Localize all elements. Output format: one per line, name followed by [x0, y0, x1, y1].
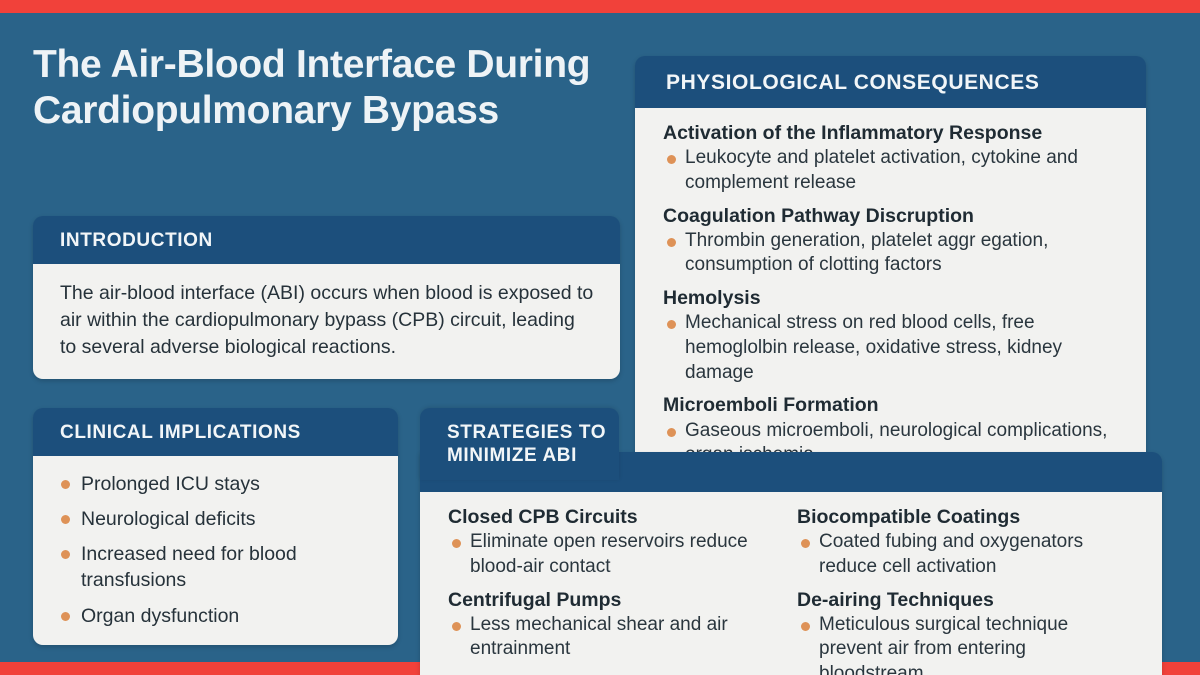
group-bullets: Leukocyte and platelet activation, cytok… [663, 146, 1130, 195]
group-bullets: Thrombin generation, platelet aggr egati… [663, 229, 1130, 278]
physiological-consequences-heading: PHYSIOLOGICAL CONSEQUENCES [635, 56, 1146, 108]
group-title: Activation of the Inflammatory Response [663, 121, 1130, 145]
list-item: Increased need for blood transfusions [57, 541, 380, 593]
introduction-card: INTRODUCTION The air-blood interface (AB… [33, 216, 620, 379]
introduction-body: The air-blood interface (ABI) occurs whe… [33, 264, 620, 379]
list-item: Organ dysfunction [57, 603, 380, 629]
list-item: Eliminate open reservoirs reduce blood-a… [448, 530, 779, 579]
list-item: Less mechanical shear and air entrainmen… [448, 613, 779, 662]
clinical-implications-card: CLINICAL IMPLICATIONS Prolonged ICU stay… [33, 408, 398, 645]
list-item: Leukocyte and platelet activation, cytok… [663, 146, 1130, 195]
list-item: Mechanical stress on red blood cells, fr… [663, 311, 1130, 385]
group-bullets: Less mechanical shear and air entrainmen… [448, 613, 779, 662]
strategies-card: Closed CPB Circuits Eliminate open reser… [420, 452, 1162, 675]
strategies-right-column: Biocompatible Coatings Coated fubing and… [797, 505, 1146, 675]
group-title: Centrifugal Pumps [448, 588, 779, 612]
list-item: Meticulous surgical technique prevent ai… [797, 613, 1128, 675]
list-item: Neurological deficits [57, 506, 380, 532]
strategies-body: Closed CPB Circuits Eliminate open reser… [420, 492, 1162, 675]
group-title: De-airing Techniques [797, 588, 1128, 612]
infographic-poster: The Air-Blood Interface During Cardiopul… [0, 0, 1200, 675]
clinical-implications-body: Prolonged ICU stays Neurological deficit… [33, 456, 398, 645]
group-title: Hemolysis [663, 286, 1130, 310]
group-bullets: Mechanical stress on red blood cells, fr… [663, 311, 1130, 385]
group-title: Closed CPB Circuits [448, 505, 779, 529]
introduction-heading: INTRODUCTION [33, 216, 620, 264]
consequence-group: Activation of the Inflammatory Response … [663, 121, 1130, 196]
list-item: Thrombin generation, platelet aggr egati… [663, 229, 1130, 278]
group-bullets: Meticulous surgical technique prevent ai… [797, 613, 1128, 675]
group-bullets: Eliminate open reservoirs reduce blood-a… [448, 530, 779, 579]
list-item: Coated fubing and oxygenators reduce cel… [797, 530, 1128, 579]
group-title: Biocompatible Coatings [797, 505, 1128, 529]
strategies-left-column: Closed CPB Circuits Eliminate open reser… [448, 505, 797, 675]
top-accent-bar [0, 0, 1200, 13]
strategy-group: Closed CPB Circuits Eliminate open reser… [448, 505, 779, 580]
strategy-group: Centrifugal Pumps Less mechanical shear … [448, 588, 779, 663]
physiological-consequences-card: PHYSIOLOGICAL CONSEQUENCES Activation of… [635, 56, 1146, 492]
strategies-heading: STRATEGIES TO MINIMIZE ABI [420, 408, 619, 480]
group-bullets: Coated fubing and oxygenators reduce cel… [797, 530, 1128, 579]
list-item: Prolonged ICU stays [57, 471, 380, 497]
physiological-consequences-body: Activation of the Inflammatory Response … [635, 108, 1146, 492]
clinical-implications-list: Prolonged ICU stays Neurological deficit… [57, 471, 380, 629]
page-title: The Air-Blood Interface During Cardiopul… [33, 42, 633, 135]
group-title: Coagulation Pathway Discruption [663, 204, 1130, 228]
group-title: Microemboli Formation [663, 393, 1130, 417]
strategy-group: Biocompatible Coatings Coated fubing and… [797, 505, 1128, 580]
strategy-group: De-airing Techniques Meticulous surgical… [797, 588, 1128, 675]
consequence-group: Hemolysis Mechanical stress on red blood… [663, 286, 1130, 385]
consequence-group: Coagulation Pathway Discruption Thrombin… [663, 204, 1130, 279]
clinical-implications-heading: CLINICAL IMPLICATIONS [33, 408, 398, 456]
